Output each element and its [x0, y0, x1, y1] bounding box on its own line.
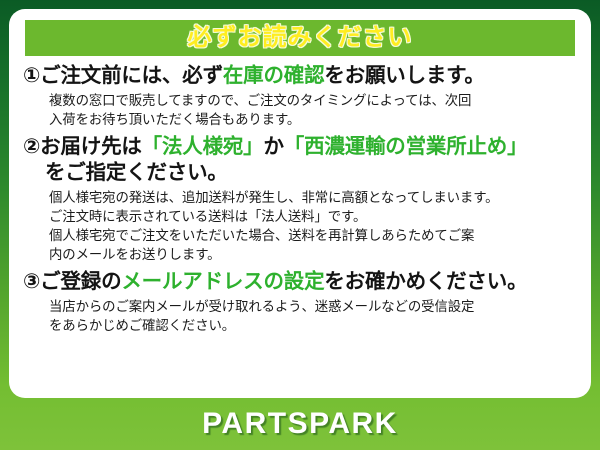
notice-item-2-marker: ②: [23, 135, 40, 158]
notice-item-3-heading-part-1: ご登録の: [40, 270, 121, 293]
notice-item-2-subline-4: 内のメールをお送りします。: [49, 245, 577, 264]
notice-item-1-heading-part-1: ご注文前には、必ず: [40, 64, 223, 87]
notice-item-3-subtext: 当店からのご案内メールが受け取れるよう、迷惑メールなどの受信設定 をあらかじめご…: [23, 295, 577, 335]
notice-item-2-heading: ②お届け先は「法人様宛」か「西濃運輸の営業所止め」 をご指定ください。: [23, 134, 577, 186]
notice-item-2-subline-1: 個人様宅宛の発送は、追加送料が発生し、非常に高額となってしまいます。: [49, 188, 577, 207]
notice-item-3-heading-part-3: をお確かめください。: [324, 270, 527, 293]
notice-item-3-subline-2: をあらかじめご確認ください。: [49, 316, 577, 335]
notice-item-3-heading-highlight: メールアドレスの設定: [121, 270, 324, 293]
notice-item-1: ①ご注文前には、必ず在庫の確認をお願いします。 複数の窓口で販売してますので、ご…: [23, 63, 577, 129]
notice-item-2-heading-line2: をご指定ください。: [23, 160, 577, 186]
notice-item-1-heading-highlight: 在庫の確認: [223, 64, 325, 87]
notice-header-bar: 必ずお読みください: [25, 20, 575, 56]
notice-item-list: ①ご注文前には、必ず在庫の確認をお願いします。 複数の窓口で販売してますので、ご…: [9, 63, 591, 340]
notice-item-2: ②お届け先は「法人様宛」か「西濃運輸の営業所止め」 をご指定ください。 個人様宅…: [23, 134, 577, 264]
brand-logo-partspark: PARTSPARK: [202, 407, 398, 441]
notice-item-2-heading-highlight-2: 「西濃運輸の営業所止め」: [284, 135, 528, 158]
notice-item-1-subline-2: 入荷をお待ち頂いただく場合もあります。: [49, 110, 577, 129]
notice-item-2-subline-2: ご注文時に表示されている送料は「法人送料」です。: [49, 207, 577, 226]
notice-item-3-heading: ③ご登録のメールアドレスの設定をお確かめください。: [23, 269, 577, 295]
notice-item-1-subtext: 複数の窓口で販売してますので、ご注文のタイミングによっては、次回 入荷をお待ち頂…: [23, 89, 577, 129]
notice-item-2-heading-highlight-1: 「法人様宛」: [142, 135, 264, 158]
notice-item-2-subtext: 個人様宅宛の発送は、追加送料が発生し、非常に高額となってしまいます。 ご注文時に…: [23, 186, 577, 264]
notice-item-3-marker: ③: [23, 270, 40, 293]
notice-item-3: ③ご登録のメールアドレスの設定をお確かめください。 当店からのご案内メールが受け…: [23, 269, 577, 335]
notice-panel: 必ずお読みください ①ご注文前には、必ず在庫の確認をお願いします。 複数の窓口で…: [9, 9, 591, 398]
notice-item-1-marker: ①: [23, 64, 40, 87]
notice-item-2-heading-part-3: か: [263, 135, 283, 158]
notice-item-2-subline-3: 個人様宅宛でご注文をいただいた場合、送料を再計算しあらためてご案: [49, 226, 577, 245]
notice-item-3-subline-1: 当店からのご案内メールが受け取れるよう、迷惑メールなどの受信設定: [49, 297, 577, 316]
notice-item-1-subline-1: 複数の窓口で販売してますので、ご注文のタイミングによっては、次回: [49, 91, 577, 110]
notice-title: 必ずお読みください: [188, 26, 413, 50]
notice-item-1-heading: ①ご注文前には、必ず在庫の確認をお願いします。: [23, 63, 577, 89]
notice-footer: PARTSPARK: [0, 398, 600, 450]
notice-banner: 必ずお読みください ①ご注文前には、必ず在庫の確認をお願いします。 複数の窓口で…: [0, 0, 600, 450]
notice-item-2-heading-part-1: お届け先は: [40, 135, 142, 158]
notice-item-1-heading-part-3: をお願いします。: [324, 64, 484, 87]
